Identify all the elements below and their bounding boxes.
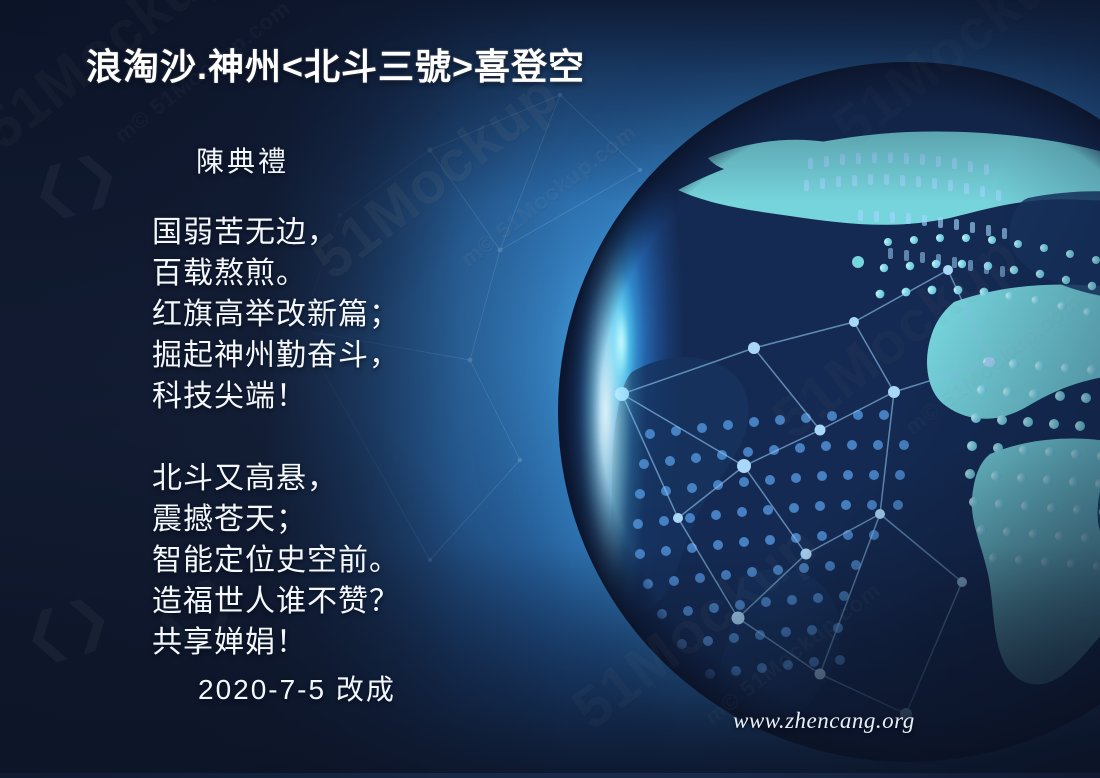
poem-body: 国弱苦无边， 百载熬煎。 红旗高举改新篇； 掘起神州勤奋斗， 科技尖端！ 北斗又… <box>152 212 400 663</box>
poem-line: 掘起神州勤奋斗， <box>152 335 400 376</box>
poem-line: 造福世人谁不赞？ <box>152 581 400 622</box>
author-name: 陳典禮 <box>196 140 289 180</box>
poem-line: 震撼苍天； <box>152 499 400 540</box>
website-url: www.zhencang.org <box>733 708 915 734</box>
page-title: 浪淘沙.神州<北斗三號>喜登空 <box>86 38 585 90</box>
poem-line: 红旗高举改新篇； <box>152 294 400 335</box>
poem-line: 智能定位史空前。 <box>152 540 400 581</box>
bottom-edge-strip <box>0 773 1100 778</box>
poem-line: 共享婵娟！ <box>152 622 400 663</box>
poem-stanza-2: 北斗又高悬， 震撼苍天； 智能定位史空前。 造福世人谁不赞？ 共享婵娟！ <box>152 458 400 663</box>
poem-line: 科技尖端！ <box>152 376 400 417</box>
stanza-gap <box>152 417 400 458</box>
poem-line: 百载熬煎。 <box>152 253 400 294</box>
poem-line: 北斗又高悬， <box>152 458 400 499</box>
date-note: 2020-7-5 改成 <box>198 668 396 708</box>
poem-line: 国弱苦无边， <box>152 212 400 253</box>
poster-canvas: 51Mockup m© 51Mockup.com 51Mockup m© 51M… <box>0 0 1100 778</box>
poem-stanza-1: 国弱苦无边， 百载熬煎。 红旗高举改新篇； 掘起神州勤奋斗， 科技尖端！ <box>152 212 400 417</box>
